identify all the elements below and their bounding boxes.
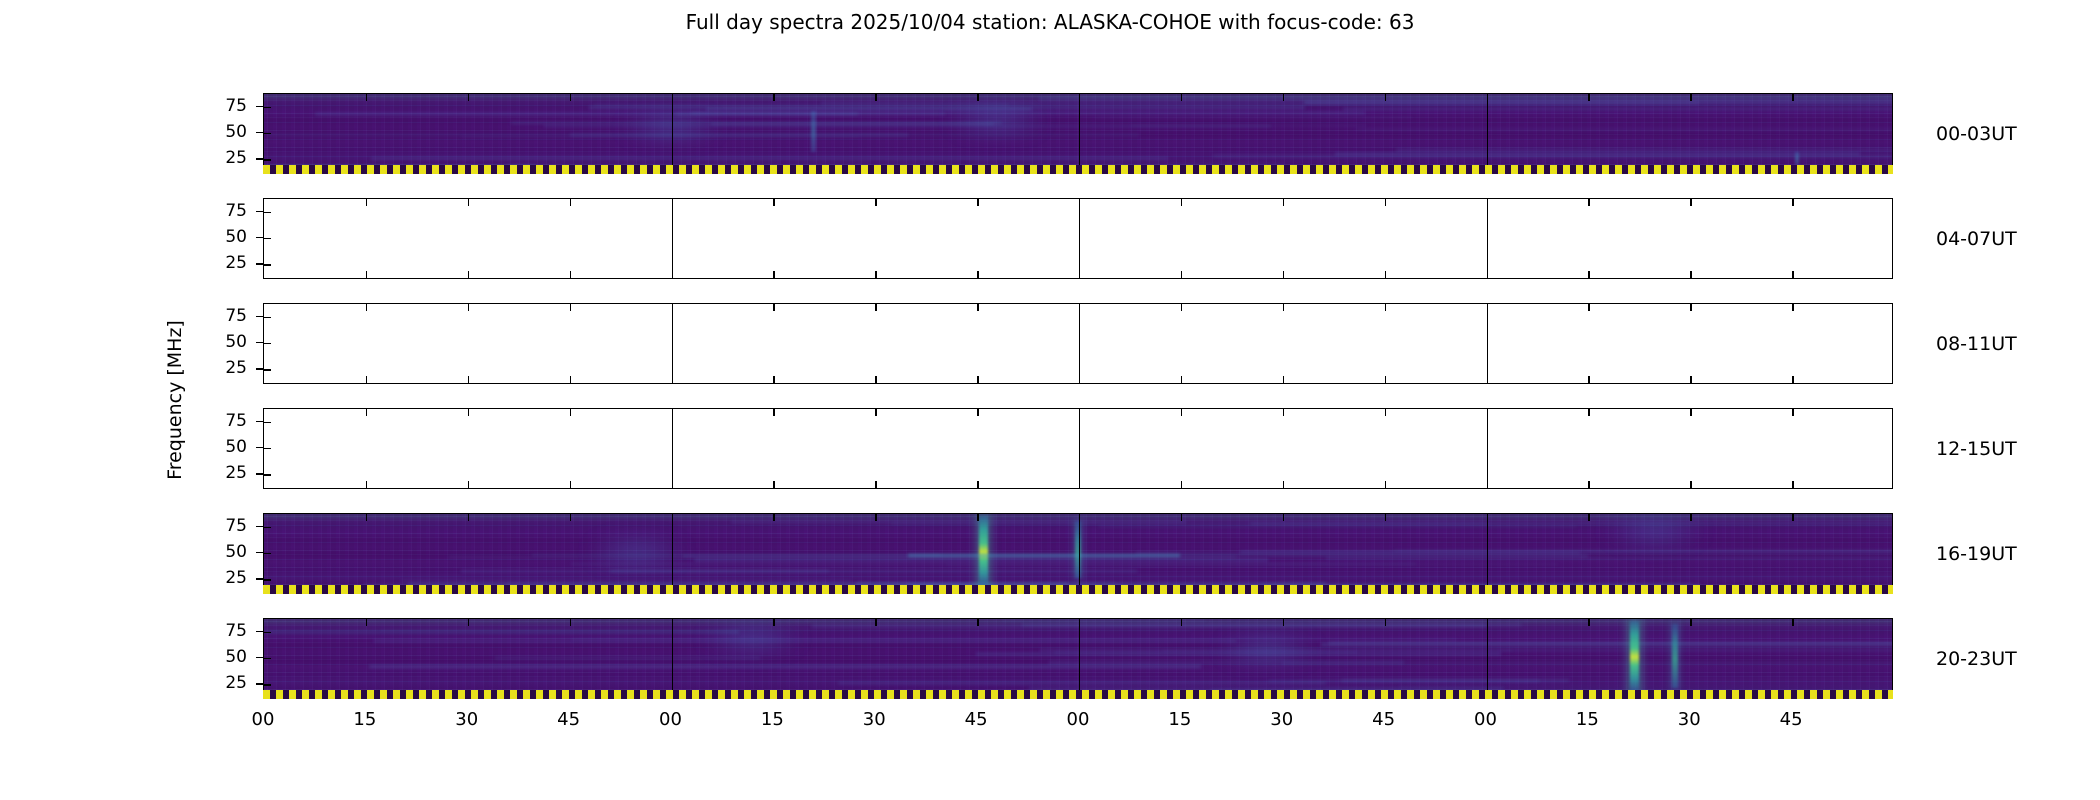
y-tick-mark-outer [256,316,263,317]
y-tick-mark [264,527,271,528]
y-tick-mark-outer [256,657,263,658]
x-tick-mark [977,481,978,488]
x-tick-mark [773,481,774,488]
x-tick-mark [1588,619,1589,626]
x-tick-label: 30 [863,709,886,730]
x-tick-mark [468,619,469,626]
vertical-gridline [672,304,673,383]
y-tick-mark [264,159,271,160]
event-marker-strip [263,165,1893,174]
x-tick-mark [468,481,469,488]
x-tick-mark [366,94,367,101]
x-tick-mark [1690,304,1691,311]
x-tick-mark [1487,409,1488,416]
x-tick-mark [1079,376,1080,383]
x-tick-label: 15 [1576,709,1599,730]
x-tick-mark [875,271,876,278]
vertical-gridline [1487,199,1488,278]
x-tick-mark [1792,481,1793,488]
x-tick-mark [1079,94,1080,101]
x-tick-mark [570,619,571,626]
vertical-gridline [672,409,673,488]
x-tick-mark [1588,514,1589,521]
y-tick-mark [264,422,271,423]
x-tick-mark [1079,304,1080,311]
x-tick-mark [1792,199,1793,206]
x-tick-mark [1690,271,1691,278]
x-tick-mark [468,94,469,101]
y-tick-mark [264,369,271,370]
x-tick-mark [1792,619,1793,626]
spectrogram-panel-16-19ut[interactable] [263,513,1893,594]
spectrogram-panel-00-03ut[interactable] [263,93,1893,174]
x-tick-mark [570,304,571,311]
x-tick-mark [977,199,978,206]
vertical-gridline [672,514,673,593]
y-tick-mark [264,107,271,108]
x-tick-label: 15 [353,709,376,730]
y-tick-mark-outer [256,368,263,369]
figure-canvas: Full day spectra 2025/10/04 station: ALA… [0,0,2100,800]
x-tick-mark [1588,481,1589,488]
x-tick-mark [468,409,469,416]
x-tick-mark [570,199,571,206]
x-tick-mark [366,514,367,521]
vertical-gridline [1079,304,1080,383]
x-tick-mark [1690,619,1691,626]
spectrogram-column-noise [264,94,1892,173]
x-tick-mark [1385,409,1386,416]
x-tick-mark [773,199,774,206]
x-tick-mark [1487,619,1488,626]
x-tick-mark [1487,376,1488,383]
x-tick-mark [1792,94,1793,101]
x-tick-mark [1487,481,1488,488]
x-tick-mark [1588,271,1589,278]
y-tick-label: 25 [205,568,247,588]
x-tick-mark [672,271,673,278]
spectrogram-panel-08-11ut[interactable] [263,303,1893,384]
y-tick-mark [264,238,271,239]
x-tick-mark [1079,199,1080,206]
x-tick-mark [1690,514,1691,521]
x-tick-mark [570,481,571,488]
y-axis-label: Frequency [MHz] [164,320,186,480]
x-tick-mark [366,199,367,206]
x-tick-mark [1792,514,1793,521]
x-tick-mark [570,271,571,278]
x-tick-mark [1283,481,1284,488]
x-tick-mark [1792,271,1793,278]
y-tick-label: 75 [205,516,247,536]
y-tick-mark [264,343,271,344]
x-tick-mark [1181,619,1182,626]
vertical-gridline [1079,94,1080,173]
event-marker-strip [263,690,1893,699]
x-tick-mark [1385,619,1386,626]
panel-time-label: 08-11UT [1936,333,2017,355]
x-tick-label: 15 [1168,709,1191,730]
vertical-gridline [1487,514,1488,593]
vertical-gridline [672,94,673,173]
x-tick-mark [773,304,774,311]
vertical-gridline [1079,409,1080,488]
y-tick-label: 25 [205,358,247,378]
x-tick-mark [1181,199,1182,206]
x-tick-label: 45 [1780,709,1803,730]
y-tick-mark-outer [256,631,263,632]
x-tick-mark [1283,94,1284,101]
figure-title: Full day spectra 2025/10/04 station: ALA… [0,10,2100,34]
x-tick-mark [773,619,774,626]
x-tick-mark [1690,94,1691,101]
y-tick-mark [264,317,271,318]
x-tick-mark [1079,514,1080,521]
spectrogram-image [264,94,1892,173]
x-tick-mark [1079,619,1080,626]
panel-time-label: 16-19UT [1936,543,2017,565]
x-tick-mark [1283,409,1284,416]
y-tick-mark-outer [256,237,263,238]
x-tick-mark [672,304,673,311]
x-tick-mark [977,409,978,416]
x-tick-mark [468,376,469,383]
x-tick-mark [468,271,469,278]
y-tick-label: 25 [205,253,247,273]
x-tick-mark [1385,376,1386,383]
y-tick-mark-outer [256,211,263,212]
x-tick-mark [773,409,774,416]
x-tick-mark [1181,271,1182,278]
vertical-gridline [1487,94,1488,173]
vertical-gridline [1487,409,1488,488]
x-tick-mark [875,514,876,521]
x-tick-mark [672,514,673,521]
x-tick-mark [1181,514,1182,521]
x-tick-mark [773,271,774,278]
x-tick-mark [672,481,673,488]
x-tick-mark [468,304,469,311]
y-tick-label: 25 [205,463,247,483]
y-tick-label: 50 [205,332,247,352]
x-tick-mark [366,481,367,488]
x-tick-mark [1283,619,1284,626]
panel-time-label: 20-23UT [1936,648,2017,670]
y-tick-mark-outer [256,421,263,422]
x-tick-label: 30 [1270,709,1293,730]
x-tick-mark [570,376,571,383]
x-tick-label: 45 [1372,709,1395,730]
y-tick-label: 75 [205,306,247,326]
x-tick-mark [977,304,978,311]
y-tick-mark [264,579,271,580]
x-tick-mark [1181,304,1182,311]
y-tick-label: 25 [205,148,247,168]
x-tick-mark [468,514,469,521]
x-tick-mark [875,481,876,488]
panel-time-label: 04-07UT [1936,228,2017,250]
x-tick-mark [366,619,367,626]
y-tick-mark [264,553,271,554]
spectrogram-image [264,619,1892,698]
x-tick-mark [570,409,571,416]
y-tick-label: 50 [205,647,247,667]
y-tick-mark [264,658,271,659]
x-tick-mark [672,409,673,416]
x-tick-mark [1588,199,1589,206]
x-tick-mark [366,271,367,278]
x-tick-mark [1283,514,1284,521]
x-tick-mark [366,409,367,416]
x-tick-label: 30 [1678,709,1701,730]
x-tick-mark [773,376,774,383]
x-tick-label: 15 [761,709,784,730]
x-tick-mark [1385,514,1386,521]
x-tick-mark [977,271,978,278]
x-tick-mark [366,304,367,311]
x-tick-mark [875,304,876,311]
x-tick-mark [672,619,673,626]
x-tick-label: 45 [557,709,580,730]
y-tick-label: 25 [205,673,247,693]
x-tick-mark [773,94,774,101]
y-tick-mark-outer [256,447,263,448]
y-tick-label: 50 [205,437,247,457]
x-tick-mark [1487,199,1488,206]
x-tick-mark [1385,304,1386,311]
x-tick-mark [570,94,571,101]
x-tick-mark [1588,304,1589,311]
x-tick-mark [1079,481,1080,488]
x-tick-mark [1181,481,1182,488]
x-tick-mark [672,199,673,206]
x-tick-mark [1588,409,1589,416]
x-tick-mark [1588,376,1589,383]
x-tick-mark [570,514,571,521]
x-tick-mark [1181,409,1182,416]
y-tick-label: 50 [205,542,247,562]
x-tick-mark [672,376,673,383]
y-tick-mark-outer [256,578,263,579]
y-tick-label: 50 [205,122,247,142]
x-tick-mark [1487,94,1488,101]
spectrogram-panel-04-07ut[interactable] [263,198,1893,279]
x-tick-label: 00 [659,709,682,730]
y-tick-mark-outer [256,683,263,684]
x-tick-label: 45 [965,709,988,730]
x-tick-mark [1792,304,1793,311]
x-tick-label: 00 [1474,709,1497,730]
x-tick-mark [1487,271,1488,278]
x-tick-mark [1385,271,1386,278]
x-tick-mark [1588,94,1589,101]
x-tick-mark [977,376,978,383]
y-tick-mark-outer [256,158,263,159]
vertical-gridline [1079,199,1080,278]
vertical-gridline [672,199,673,278]
x-tick-mark [1385,94,1386,101]
y-tick-mark [264,474,271,475]
y-tick-mark [264,133,271,134]
event-marker-strip [263,585,1893,594]
x-tick-label: 00 [1067,709,1090,730]
x-tick-mark [977,619,978,626]
panel-time-label: 12-15UT [1936,438,2017,460]
x-tick-mark [977,514,978,521]
x-tick-mark [1079,271,1080,278]
y-tick-mark-outer [256,132,263,133]
x-tick-mark [1283,271,1284,278]
spectrogram-image [264,514,1892,593]
x-tick-mark [875,94,876,101]
vertical-gridline [1079,619,1080,698]
y-tick-mark-outer [256,106,263,107]
x-tick-mark [672,94,673,101]
spectrogram-column-noise [264,619,1892,698]
x-tick-mark [1079,409,1080,416]
y-tick-mark [264,632,271,633]
y-tick-mark-outer [256,473,263,474]
x-tick-mark [875,409,876,416]
vertical-gridline [672,619,673,698]
x-tick-mark [875,376,876,383]
vertical-gridline [1079,514,1080,593]
y-tick-mark [264,448,271,449]
x-tick-mark [977,94,978,101]
x-tick-mark [1487,514,1488,521]
x-tick-mark [1792,376,1793,383]
x-tick-mark [1181,376,1182,383]
x-tick-mark [1283,376,1284,383]
x-tick-mark [366,376,367,383]
vertical-gridline [1487,619,1488,698]
x-tick-mark [468,199,469,206]
y-tick-label: 75 [205,201,247,221]
x-tick-mark [773,514,774,521]
x-tick-mark [1385,199,1386,206]
vertical-gridline [1487,304,1488,383]
x-tick-mark [1283,199,1284,206]
y-tick-mark-outer [256,552,263,553]
x-tick-mark [1792,409,1793,416]
x-tick-mark [1690,409,1691,416]
x-tick-mark [1385,481,1386,488]
spectrogram-panel-20-23ut[interactable] [263,618,1893,699]
y-tick-mark [264,684,271,685]
y-tick-label: 50 [205,227,247,247]
y-tick-label: 75 [205,96,247,116]
x-tick-mark [1690,481,1691,488]
x-tick-mark [1690,376,1691,383]
spectrogram-panel-12-15ut[interactable] [263,408,1893,489]
spectrogram-column-noise [264,514,1892,593]
x-tick-mark [875,619,876,626]
x-tick-mark [1283,304,1284,311]
y-tick-mark [264,264,271,265]
x-tick-label: 30 [455,709,478,730]
x-tick-mark [1690,199,1691,206]
x-tick-mark [1181,94,1182,101]
y-tick-label: 75 [205,411,247,431]
y-tick-label: 75 [205,621,247,641]
panel-time-label: 00-03UT [1936,123,2017,145]
x-tick-label: 00 [252,709,275,730]
x-tick-mark [875,199,876,206]
y-tick-mark-outer [256,263,263,264]
y-tick-mark-outer [256,342,263,343]
y-tick-mark-outer [256,526,263,527]
x-tick-mark [1487,304,1488,311]
y-tick-mark [264,212,271,213]
